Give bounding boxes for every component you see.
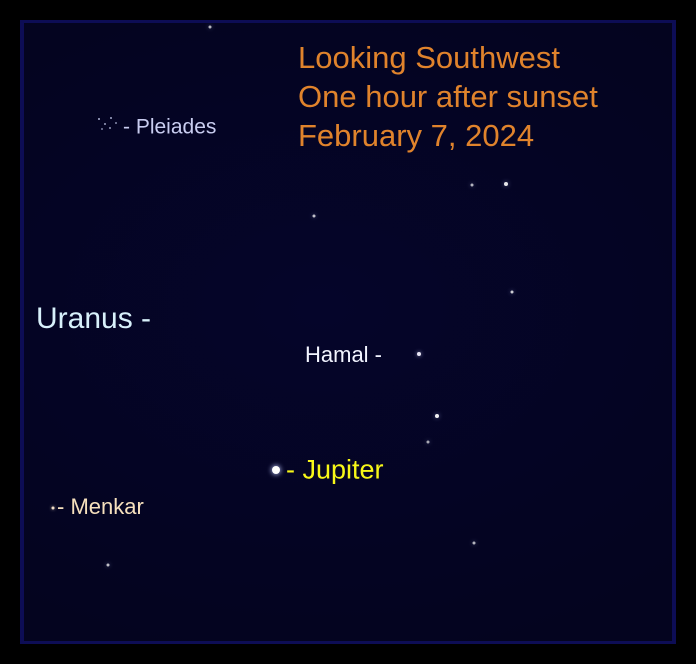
menkar-star-dot bbox=[52, 507, 55, 510]
background-star bbox=[107, 564, 110, 567]
title-line-direction: Looking Southwest bbox=[298, 38, 598, 77]
pleiades-member-star bbox=[109, 127, 111, 129]
background-star bbox=[435, 414, 439, 418]
title-line-date: February 7, 2024 bbox=[298, 116, 598, 155]
pleiades-member-star bbox=[101, 128, 103, 130]
background-star bbox=[511, 291, 514, 294]
hamal-star-dot bbox=[417, 352, 421, 356]
pleiades-member-star bbox=[110, 117, 112, 119]
star-chart-frame: - Pleiades Uranus - Hamal - - Jupiter - … bbox=[0, 0, 696, 664]
pleiades-star-cluster bbox=[97, 115, 123, 135]
label-pleiades: - Pleiades bbox=[123, 117, 216, 138]
pleiades-member-star bbox=[115, 122, 117, 124]
label-uranus: Uranus - bbox=[36, 304, 151, 334]
label-jupiter: - Jupiter bbox=[286, 457, 384, 484]
background-star bbox=[427, 441, 430, 444]
chart-title-block: Looking Southwest One hour after sunset … bbox=[298, 38, 598, 155]
background-star bbox=[471, 184, 474, 187]
pleiades-member-star bbox=[98, 118, 100, 120]
title-line-time: One hour after sunset bbox=[298, 77, 598, 116]
jupiter-planet-dot bbox=[272, 466, 280, 474]
label-hamal: Hamal - bbox=[305, 344, 382, 366]
background-star bbox=[313, 215, 316, 218]
background-star bbox=[209, 26, 212, 29]
label-menkar: - Menkar bbox=[57, 496, 144, 518]
night-sky: - Pleiades Uranus - Hamal - - Jupiter - … bbox=[24, 23, 672, 641]
background-star bbox=[473, 542, 476, 545]
background-star bbox=[504, 182, 508, 186]
pleiades-member-star bbox=[104, 123, 106, 125]
